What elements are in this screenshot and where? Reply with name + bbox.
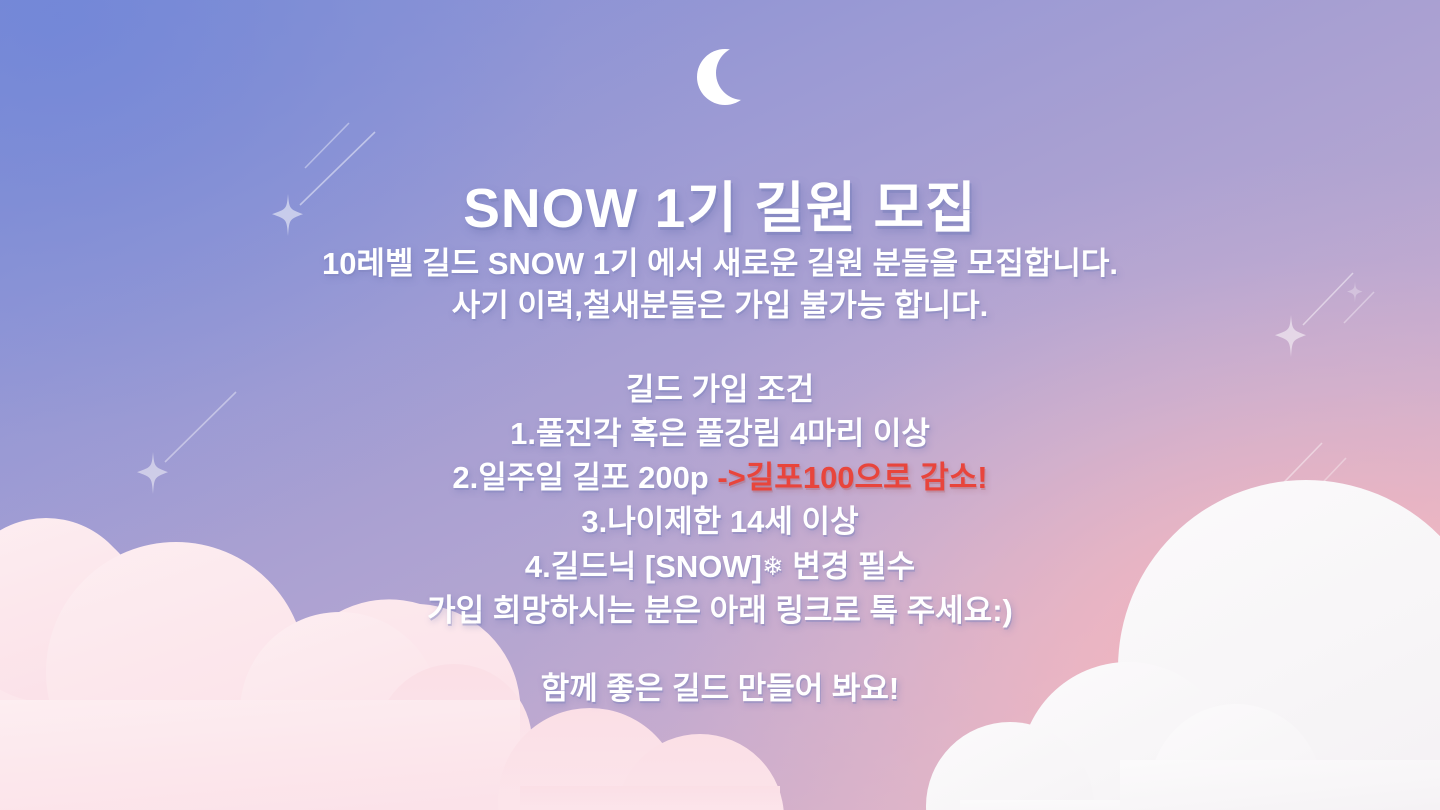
outro-paragraph: 함께 좋은 길드 만들어 봐요! — [0, 668, 1440, 710]
rules-heading: 길드 가입 조건 — [0, 368, 1440, 412]
rule-item-2-text: 2.일주일 길포 200p — [452, 460, 717, 495]
rules-block: 길드 가입 조건 1.풀진각 혹은 풀강림 4마리 이상 2.일주일 길포 20… — [0, 368, 1440, 633]
rule-item-3: 3.나이제한 14세 이상 — [0, 500, 1440, 544]
intro-line-1: 10레벨 길드 SNOW 1기 에서 새로운 길원 분들을 모집합니다. — [0, 243, 1440, 285]
outro-line: 함께 좋은 길드 만들어 봐요! — [0, 668, 1440, 710]
intro-line-2: 사기 이력,철새분들은 가입 불가능 합니다. — [0, 285, 1440, 327]
rule-item-4-tail: 변경 필수 — [784, 549, 915, 584]
rule-item-2: 2.일주일 길포 200p ->길포100으로 감소! — [0, 456, 1440, 500]
rule-item-1: 1.풀진각 혹은 풀강림 4마리 이상 — [0, 412, 1440, 456]
rule-item-4: 4.길드닉 [SNOW]❄ 변경 필수 — [0, 544, 1440, 589]
rule-item-4-text: 4.길드닉 [SNOW] — [525, 549, 762, 584]
page-title: SNOW 1기 길원 모집 — [0, 163, 1440, 243]
contact-instruction: 가입 희망하시는 분은 아래 링크로 톡 주세요:) — [0, 589, 1440, 633]
rule-item-2-accent: ->길포100으로 감소! — [717, 460, 987, 495]
snowflake-icon: ❄ — [762, 551, 784, 581]
intro-paragraph: 10레벨 길드 SNOW 1기 에서 새로운 길원 분들을 모집합니다. 사기 … — [0, 243, 1440, 327]
poster-canvas: SNOW 1기 길원 모집 10레벨 길드 SNOW 1기 에서 새로운 길원 … — [0, 0, 1440, 810]
poster-text: SNOW 1기 길원 모집 10레벨 길드 SNOW 1기 에서 새로운 길원 … — [0, 0, 1440, 810]
